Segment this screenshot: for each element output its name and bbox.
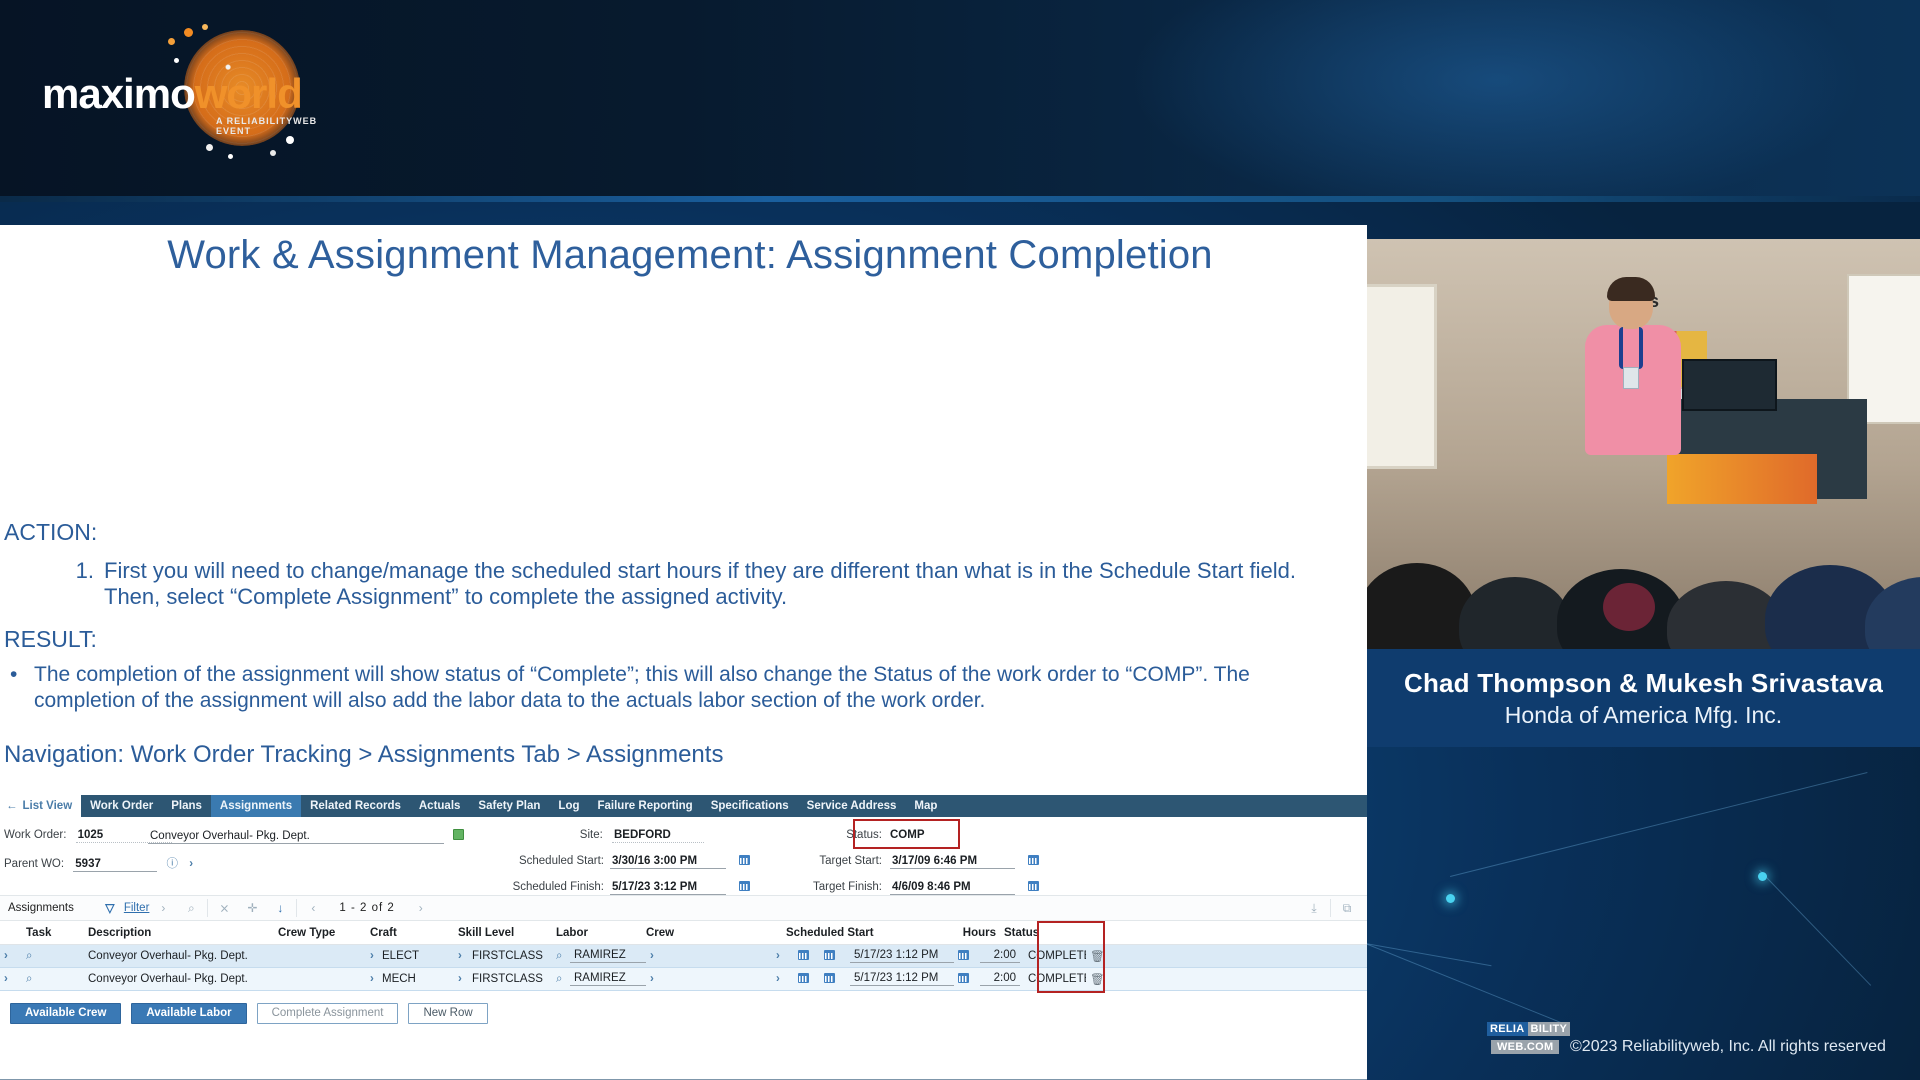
tab-log[interactable]: Log bbox=[549, 795, 588, 817]
row-description[interactable]: Conveyor Overhaul- Pkg. Dept. bbox=[84, 973, 274, 985]
logo-word-world: world bbox=[195, 70, 302, 117]
tab-actuals[interactable]: Actuals bbox=[410, 795, 470, 817]
site-label: Site: bbox=[580, 829, 603, 841]
tab-failure-reporting[interactable]: Failure Reporting bbox=[589, 795, 702, 817]
add-row-icon[interactable]: ✛ bbox=[238, 901, 266, 915]
available-crew-button[interactable]: Available Crew bbox=[10, 1003, 121, 1024]
parent-wo-label: Parent WO: bbox=[4, 858, 64, 870]
result-list-item: • The completion of the assignment will … bbox=[10, 662, 1290, 714]
speaker-name-plate: Chad Thompson & Mukesh Srivastava Honda … bbox=[1367, 649, 1920, 747]
download-icon[interactable]: ↓ bbox=[266, 901, 294, 915]
row-skill-level[interactable]: FIRSTCLASS bbox=[468, 950, 552, 962]
col-scheduled-start[interactable]: Scheduled Start bbox=[782, 927, 954, 939]
speaker-names: Chad Thompson & Mukesh Srivastava bbox=[1404, 668, 1883, 699]
row-scheduled-start-calendar-icon[interactable] bbox=[958, 950, 969, 960]
scheduled-finish-label: Scheduled Finish: bbox=[513, 881, 604, 893]
col-description[interactable]: Description bbox=[84, 927, 274, 939]
action-label: ACTION: bbox=[4, 519, 97, 546]
crew-detail-icon[interactable]: › bbox=[772, 973, 794, 985]
new-row-button[interactable]: New Row bbox=[408, 1003, 487, 1024]
target-finish-label: Target Finish: bbox=[813, 881, 882, 893]
row-finish-calendar-icon[interactable] bbox=[824, 950, 835, 960]
table-row[interactable]: › ⌕ Conveyor Overhaul- Pkg. Dept. › MECH… bbox=[0, 968, 1367, 991]
tab-assignments[interactable]: Assignments bbox=[211, 795, 301, 817]
parent-wo-value[interactable]: 5937 bbox=[73, 858, 157, 872]
search-icon[interactable]: ⌕ bbox=[177, 901, 205, 916]
export-icon[interactable]: ⤓ bbox=[1300, 901, 1328, 916]
row-hours[interactable]: 2:00 bbox=[980, 949, 1020, 963]
status-highlight-box bbox=[853, 819, 960, 849]
background-divider-line bbox=[0, 196, 1920, 202]
col-hours[interactable]: Hours bbox=[954, 927, 1000, 939]
task-lookup-icon[interactable]: ⌕ bbox=[26, 973, 32, 985]
slide-body: Work & Assignment Management: Assignment… bbox=[0, 225, 1367, 856]
table-header-row: Task Description Crew Type Craft Skill L… bbox=[0, 921, 1367, 945]
row-skill-level[interactable]: FIRSTCLASS bbox=[468, 973, 552, 985]
col-labor[interactable]: Labor bbox=[552, 927, 642, 939]
row-craft[interactable]: ELECT bbox=[378, 950, 454, 962]
assignments-toolbar: Assignments ▽ Filter › ⌕ ⨯ ✛ ↓ ‹ 1 - 2 o… bbox=[0, 895, 1367, 921]
logo-text-relia: RELIA bbox=[1487, 1022, 1528, 1036]
reliabilityweb-logo-row1: RELIA BILITY bbox=[1487, 1022, 1570, 1036]
col-skill-level[interactable]: Skill Level bbox=[454, 927, 552, 939]
toolbar-divider-2 bbox=[296, 899, 297, 917]
row-hours[interactable]: 2:00 bbox=[980, 972, 1020, 986]
assignments-table: Task Description Crew Type Craft Skill L… bbox=[0, 921, 1367, 991]
labor-detail-icon[interactable]: › bbox=[646, 973, 668, 985]
filter-link[interactable]: Filter bbox=[124, 902, 150, 914]
maximo-app-screenshot: ← List View Work Order Plans Assignments… bbox=[0, 795, 1367, 1080]
list-view-button[interactable]: ← List View bbox=[0, 795, 81, 817]
craft-detail-icon[interactable]: › bbox=[454, 973, 468, 985]
row-scheduled-start[interactable]: 5/17/23 1:12 PM bbox=[850, 949, 954, 963]
result-list-text: The completion of the assignment will sh… bbox=[34, 662, 1290, 714]
logo-wordmark: maximoworld bbox=[42, 70, 302, 118]
toolbar-divider-3 bbox=[1330, 899, 1331, 917]
logo-text-webcom: WEB.COM bbox=[1491, 1040, 1559, 1054]
video-laptop bbox=[1682, 359, 1777, 411]
page-title: Work & Assignment Management: Assignment… bbox=[70, 233, 1310, 278]
video-presenter-lanyard bbox=[1619, 327, 1643, 369]
tab-safety-plan[interactable]: Safety Plan bbox=[469, 795, 549, 817]
work-order-label: Work Order: bbox=[4, 829, 66, 841]
tab-specifications[interactable]: Specifications bbox=[702, 795, 798, 817]
scheduled-start-label: Scheduled Start: bbox=[519, 855, 604, 867]
info-circle-icon[interactable]: ⓘ bbox=[166, 858, 178, 870]
video-audience bbox=[1367, 524, 1920, 649]
speaker-video-feed: nents bbox=[1367, 239, 1920, 649]
filter-icon[interactable]: ▽ bbox=[96, 901, 124, 915]
assignments-section-title: Assignments bbox=[0, 902, 96, 914]
scheduled-finish-value[interactable]: 5/17/23 3:12 PM bbox=[610, 881, 726, 895]
row-finish-calendar-icon[interactable] bbox=[824, 973, 835, 983]
video-presenter bbox=[1579, 281, 1691, 496]
filter-next-icon[interactable]: › bbox=[149, 901, 177, 915]
result-label: RESULT: bbox=[4, 626, 97, 653]
maximoworld-logo: maximoworld A RELIABILITYWEB EVENT bbox=[36, 24, 336, 152]
slide-stage: maximoworld A RELIABILITYWEB EVENT Work … bbox=[0, 0, 1920, 1080]
logo-tagline: A RELIABILITYWEB EVENT bbox=[216, 116, 336, 136]
row-description[interactable]: Conveyor Overhaul- Pkg. Dept. bbox=[84, 950, 274, 962]
video-presenter-hair bbox=[1607, 277, 1655, 301]
crew-type-detail-icon[interactable]: › bbox=[366, 973, 378, 985]
detail-view-icon[interactable]: ⧉ bbox=[1333, 901, 1361, 916]
action-list-text: First you will need to change/manage the… bbox=[104, 558, 1320, 610]
col-task[interactable]: Task bbox=[22, 927, 84, 939]
maximo-tab-bar: ← List View Work Order Plans Assignments… bbox=[0, 795, 1367, 817]
long-description-icon[interactable] bbox=[453, 829, 464, 840]
target-finish-calendar-icon[interactable] bbox=[1028, 881, 1039, 891]
action-list-item: 1. First you will need to change/manage … bbox=[60, 558, 1320, 610]
row-start-calendar-icon[interactable] bbox=[798, 973, 809, 983]
reliabilityweb-logo: RELIA BILITY WEB.COM bbox=[1487, 1022, 1559, 1060]
row-labor[interactable]: RAMIREZ bbox=[570, 972, 646, 986]
navigation-path: Navigation: Work Order Tracking > Assign… bbox=[4, 741, 723, 769]
bullet-icon: • bbox=[10, 662, 17, 688]
previous-page-icon[interactable]: ‹ bbox=[299, 901, 327, 915]
col-crew-type[interactable]: Crew Type bbox=[274, 927, 366, 939]
crew-type-detail-icon[interactable]: › bbox=[366, 950, 378, 962]
video-presenter-badge bbox=[1623, 367, 1639, 389]
status-column-highlight-box bbox=[1037, 921, 1105, 993]
toolbar-right-group: ⤓ ⧉ bbox=[1300, 899, 1367, 917]
scheduled-start-value[interactable]: 3/30/16 3:00 PM bbox=[610, 855, 726, 869]
craft-detail-icon[interactable]: › bbox=[454, 950, 468, 962]
tab-service-address[interactable]: Service Address bbox=[798, 795, 906, 817]
detail-menu-arrow-icon[interactable]: › bbox=[189, 858, 193, 870]
action-list-number: 1. bbox=[60, 558, 94, 584]
video-poster-board bbox=[1367, 284, 1437, 469]
col-crew[interactable]: Crew bbox=[642, 927, 782, 939]
logo-word-maximo: maximo bbox=[42, 70, 195, 117]
tab-map[interactable]: Map bbox=[905, 795, 946, 817]
site-value: BEDFORD bbox=[612, 829, 704, 843]
assignments-action-buttons: Available Crew Available Labor Complete … bbox=[0, 993, 1367, 1033]
speaker-organization: Honda of America Mfg. Inc. bbox=[1505, 702, 1782, 729]
tab-work-order[interactable]: Work Order bbox=[81, 795, 162, 817]
complete-assignment-button[interactable]: Complete Assignment bbox=[257, 1003, 399, 1024]
skill-lookup-icon[interactable]: ⌕ bbox=[552, 950, 570, 963]
row-craft[interactable]: MECH bbox=[378, 973, 454, 985]
row-expand-icon[interactable]: › bbox=[0, 973, 22, 985]
logo-text-bility: BILITY bbox=[1528, 1022, 1571, 1036]
tab-related-records[interactable]: Related Records bbox=[301, 795, 410, 817]
skill-lookup-icon[interactable]: ⌕ bbox=[552, 973, 570, 986]
row-scheduled-start[interactable]: 5/17/23 1:12 PM bbox=[850, 972, 954, 986]
work-order-form: Work Order: 1025 Conveyor Overhaul- Pkg.… bbox=[0, 817, 1367, 893]
target-start-label: Target Start: bbox=[819, 855, 882, 867]
work-order-description-input[interactable]: Conveyor Overhaul- Pkg. Dept. bbox=[148, 830, 444, 844]
tab-plans[interactable]: Plans bbox=[162, 795, 211, 817]
row-scheduled-start-calendar-icon[interactable] bbox=[958, 973, 969, 983]
table-row[interactable]: › ⌕ Conveyor Overhaul- Pkg. Dept. › ELEC… bbox=[0, 945, 1367, 968]
toolbar-divider bbox=[207, 899, 208, 917]
target-finish-value[interactable]: 4/6/09 8:46 PM bbox=[890, 881, 1015, 895]
list-view-label: List View bbox=[23, 800, 73, 812]
labor-detail-icon[interactable]: › bbox=[646, 950, 668, 962]
row-expand-icon[interactable]: › bbox=[0, 950, 22, 962]
copyright-text: ©2023 Reliabilityweb, Inc. All rights re… bbox=[1570, 1038, 1886, 1056]
task-lookup-icon[interactable]: ⌕ bbox=[26, 950, 32, 962]
col-craft[interactable]: Craft bbox=[366, 927, 454, 939]
row-start-calendar-icon[interactable] bbox=[798, 950, 809, 960]
record-count: 1 - 2 of 2 bbox=[327, 902, 406, 914]
target-start-value[interactable]: 3/17/09 6:46 PM bbox=[890, 855, 1015, 869]
clear-filter-icon[interactable]: ⨯ bbox=[210, 901, 238, 915]
target-start-calendar-icon[interactable] bbox=[1028, 855, 1039, 865]
available-labor-button[interactable]: Available Labor bbox=[131, 1003, 246, 1024]
back-arrow-icon: ← bbox=[6, 800, 18, 812]
row-labor[interactable]: RAMIREZ bbox=[570, 949, 646, 963]
next-page-icon[interactable]: › bbox=[407, 901, 435, 915]
crew-detail-icon[interactable]: › bbox=[772, 950, 794, 962]
background-top-glow bbox=[860, 0, 1920, 200]
